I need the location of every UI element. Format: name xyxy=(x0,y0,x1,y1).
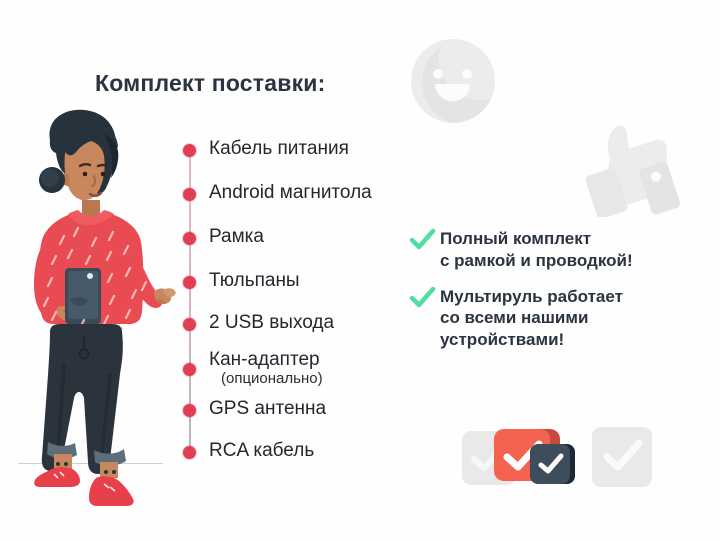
kit-contents-list: Кабель питания Android магнитола Рамка Т… xyxy=(178,130,438,460)
list-item-label: Кан-адаптер (опционально) xyxy=(209,349,323,388)
list-item-label: Кабель питания xyxy=(209,138,349,159)
benefit-item: Мультируль работает со всеми нашими устр… xyxy=(408,286,708,351)
check-icon xyxy=(602,439,644,473)
list-bullet-icon xyxy=(183,404,196,417)
page-title: Комплект поставки: xyxy=(95,70,326,97)
list-bullet-icon xyxy=(183,318,196,331)
benefits-list: Полный комплект с рамкой и проводкой! Му… xyxy=(408,228,708,365)
avito-watermark: Avito xyxy=(602,500,706,530)
check-icon xyxy=(408,284,436,312)
list-item-label: GPS антенна xyxy=(209,398,326,419)
list-bullet-icon xyxy=(183,276,196,289)
list-item-label: 2 USB выхода xyxy=(209,312,334,333)
check-icon xyxy=(408,226,436,254)
promo-canvas: Комплект поставки: Кабель питания Androi… xyxy=(0,0,720,540)
list-bullet-icon xyxy=(183,446,196,459)
benefit-item: Полный комплект с рамкой и проводкой! xyxy=(408,228,708,272)
list-item-label-main: Кан-адаптер xyxy=(209,349,320,370)
benefit-text: Полный комплект с рамкой и проводкой! xyxy=(440,228,633,272)
list-item-label-note: (опционально) xyxy=(221,371,323,388)
list-bullet-icon xyxy=(183,232,196,245)
check-icon xyxy=(537,453,565,475)
list-bullet-icon xyxy=(183,188,196,201)
smiley-face-icon xyxy=(408,36,498,126)
list-item-label: Android магнитола xyxy=(209,182,372,203)
benefit-text: Мультируль работает со всеми нашими устр… xyxy=(440,286,623,351)
woman-pointing-illustration xyxy=(8,104,178,510)
list-item-label: Тюльпаны xyxy=(209,270,300,291)
avito-watermark-text: Avito xyxy=(634,504,691,530)
list-item-label: RCA кабель xyxy=(209,440,314,461)
list-item-label: Рамка xyxy=(209,226,264,247)
checkbox-stack-decoration xyxy=(462,415,652,490)
thumbs-up-icon xyxy=(580,112,695,217)
list-bullet-icon xyxy=(183,363,196,376)
list-bullet-icon xyxy=(183,144,196,157)
